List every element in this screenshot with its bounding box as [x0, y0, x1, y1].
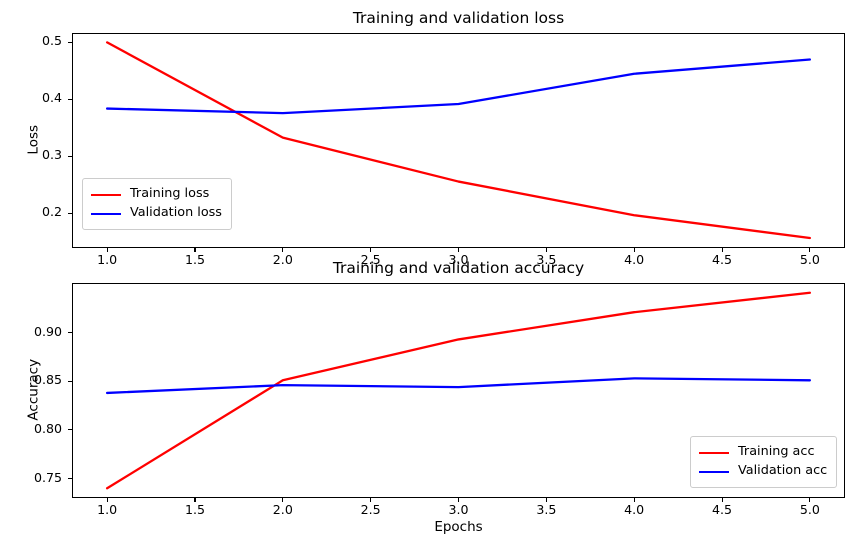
- x-tick-label: 3.5: [521, 504, 571, 517]
- x-tick-label: 4.5: [697, 504, 747, 517]
- matplotlib-figure: Training and validation loss Loss 0.20.3…: [0, 0, 855, 547]
- y-tick-mark: [68, 332, 72, 333]
- accuracy-legend: Training acc Validation acc: [690, 436, 837, 488]
- x-tick-label: 2.0: [258, 504, 308, 517]
- y-tick-mark: [68, 381, 72, 382]
- legend-item-training-acc: Training acc: [699, 443, 827, 462]
- series-line-validation-acc: [107, 378, 810, 393]
- x-tick-label: 1.0: [82, 504, 132, 517]
- accuracy-x-axis-label: Epochs: [72, 521, 845, 535]
- legend-swatch-training-acc: [699, 452, 729, 454]
- x-tick-label: 5.0: [785, 504, 835, 517]
- legend-label-training-acc: Training acc: [738, 446, 814, 459]
- y-tick-label: 0.75: [12, 472, 62, 485]
- legend-swatch-validation-acc: [699, 471, 729, 473]
- y-tick-mark: [68, 478, 72, 479]
- x-tick-label: 3.0: [434, 504, 484, 517]
- x-tick-label: 1.5: [170, 504, 220, 517]
- y-tick-label: 0.80: [12, 423, 62, 436]
- y-tick-mark: [68, 429, 72, 430]
- legend-label-validation-acc: Validation acc: [738, 465, 827, 478]
- legend-item-validation-acc: Validation acc: [699, 462, 827, 481]
- x-tick-label: 4.0: [609, 504, 659, 517]
- x-tick-label: 2.5: [346, 504, 396, 517]
- y-tick-label: 0.85: [12, 374, 62, 387]
- y-tick-label: 0.90: [12, 326, 62, 339]
